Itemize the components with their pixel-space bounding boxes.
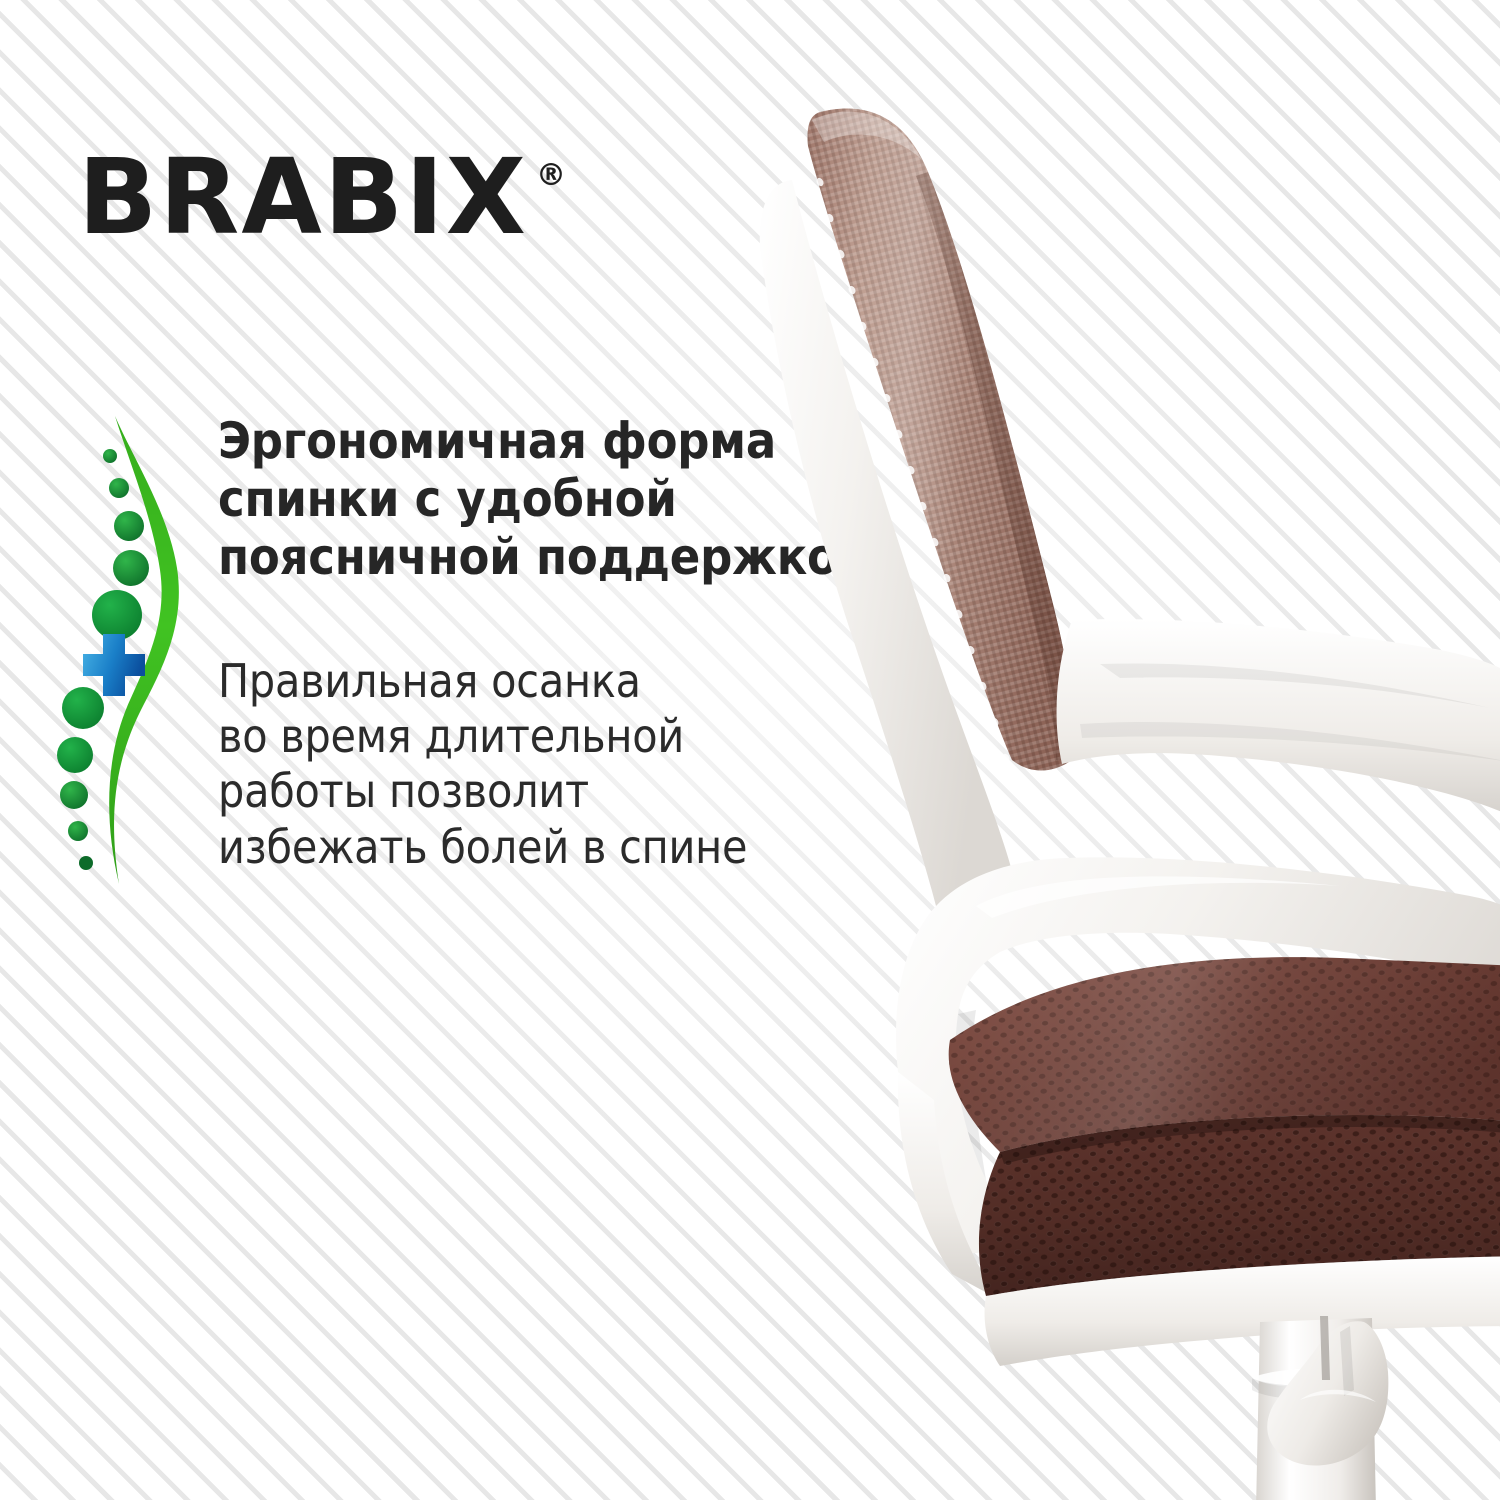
spine-health-icon: [46, 408, 221, 898]
vertebra-dot: [60, 781, 88, 809]
vertebra-dot: [109, 478, 129, 498]
office-chair-product-image: [700, 60, 1500, 1500]
product-marketing-banner: BRABIX ®: [0, 0, 1500, 1500]
vertebra-dot: [113, 550, 149, 586]
backrest-outer-shell: [1057, 619, 1500, 820]
medical-cross-icon: [83, 634, 145, 696]
vertebra-dot: [92, 590, 142, 640]
vertebra-dot: [62, 687, 104, 729]
vertebra-dot: [57, 737, 93, 773]
vertebra-dot: [103, 449, 117, 463]
brand-name: BRABIX: [78, 148, 528, 247]
brand-logo: BRABIX ®: [78, 148, 566, 247]
registered-trademark-icon: ®: [536, 158, 566, 193]
vertebra-dot: [68, 821, 88, 841]
vertebra-dot: [114, 511, 144, 541]
vertebra-dot: [79, 856, 93, 870]
